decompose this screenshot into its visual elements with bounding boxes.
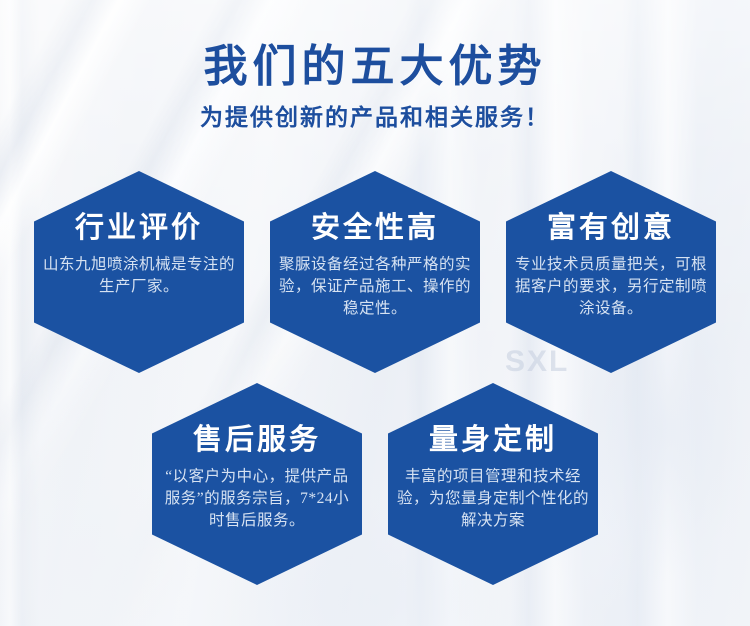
advantage-hexagon-5[interactable]: 量身定制 丰富的项目管理和技术经验，为您量身定制个性化的解决方案 xyxy=(388,383,598,585)
background-watermark-logo: SXL xyxy=(505,345,569,379)
advantage-description-4: “以客户为中心，提供产品服务”的服务宗旨，7*24小时售后服务。 xyxy=(152,466,362,532)
page-title: 我们的五大优势 xyxy=(0,42,750,91)
advantage-title-4: 售后服务 xyxy=(152,425,362,457)
advantage-title-5: 量身定制 xyxy=(388,425,598,457)
page-subtitle: 为提供创新的产品和相关服务！ xyxy=(0,104,750,132)
advantage-description-5: 丰富的项目管理和技术经验，为您量身定制个性化的解决方案 xyxy=(388,466,598,532)
advantage-hexagon-3[interactable]: 富有创意 专业技术员质量把关，可根据客户的要求，另行定制喷涂设备。 xyxy=(506,171,716,373)
advantage-hexagon-4[interactable]: 售后服务 “以客户为中心，提供产品服务”的服务宗旨，7*24小时售后服务。 xyxy=(152,383,362,585)
advantage-title-3: 富有创意 xyxy=(506,213,716,245)
advantage-description-1: 山东九旭喷涂机械是专注的生产厂家。 xyxy=(34,254,244,298)
advantage-description-2: 聚脲设备经过各种严格的实验，保证产品施工、操作的稳定性。 xyxy=(270,254,480,320)
advantages-banner: SXL 我们的五大优势 为提供创新的产品和相关服务！ 行业评价 山东九旭喷涂机械… xyxy=(0,0,750,626)
advantage-title-2: 安全性高 xyxy=(270,213,480,245)
advantage-title-1: 行业评价 xyxy=(34,213,244,245)
advantage-description-3: 专业技术员质量把关，可根据客户的要求，另行定制喷涂设备。 xyxy=(506,254,716,320)
advantage-hexagon-2[interactable]: 安全性高 聚脲设备经过各种严格的实验，保证产品施工、操作的稳定性。 xyxy=(270,171,480,373)
advantage-hexagon-1[interactable]: 行业评价 山东九旭喷涂机械是专注的生产厂家。 xyxy=(34,171,244,373)
header: 我们的五大优势 为提供创新的产品和相关服务！ xyxy=(0,42,750,132)
